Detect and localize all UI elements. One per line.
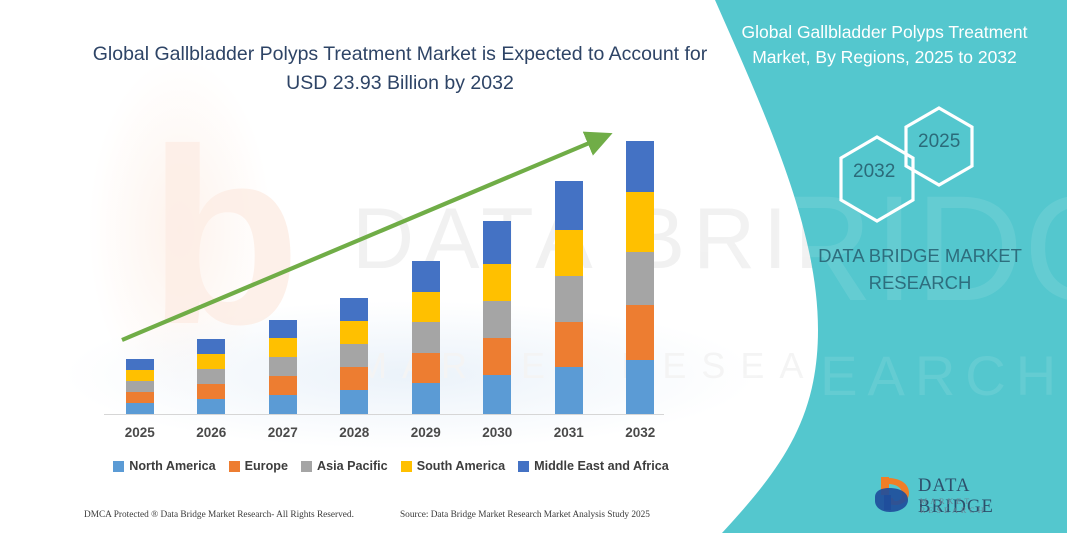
legend-swatch-icon — [113, 461, 124, 472]
bar-segment-north-america[interactable] — [340, 390, 368, 414]
brand-name: DATA BRIDGE MARKET RESEARCH — [795, 243, 1045, 297]
x-tick-2026: 2026 — [176, 425, 246, 440]
bar-segment-south-america[interactable] — [269, 338, 297, 357]
footer-source: Source: Data Bridge Market Research Mark… — [400, 510, 650, 520]
chart-legend: North AmericaEuropeAsia PacificSouth Ame… — [98, 459, 684, 473]
bar-segment-europe[interactable] — [626, 305, 654, 360]
hexagon-2025-label: 2025 — [918, 131, 960, 153]
legend-swatch-icon — [301, 461, 312, 472]
bar-segment-north-america[interactable] — [197, 399, 225, 414]
bar-segment-south-america[interactable] — [197, 354, 225, 369]
x-tick-2031: 2031 — [534, 425, 604, 440]
svg-text:RESEARCH: RESEARCH — [690, 344, 1066, 407]
bar-segment-asia-pacific[interactable] — [483, 301, 511, 338]
bar-segment-europe[interactable] — [483, 338, 511, 375]
bar-segment-europe[interactable] — [555, 322, 583, 367]
legend-label: South America — [417, 459, 505, 473]
bar-segment-asia-pacific[interactable] — [269, 357, 297, 376]
legend-label: Middle East and Africa — [534, 459, 669, 473]
bar-segment-south-america[interactable] — [555, 230, 583, 276]
bar-segment-north-america[interactable] — [626, 360, 654, 414]
bar-segment-middle-east-and-africa[interactable] — [626, 141, 654, 192]
footer-copyright: DMCA Protected ® Data Bridge Market Rese… — [84, 510, 354, 520]
bar-segment-europe[interactable] — [412, 353, 440, 383]
bar-2025[interactable] — [126, 359, 154, 414]
legend-item-europe[interactable]: Europe — [229, 459, 288, 473]
chart-plot-area: 20252026202720282029203020312032 — [0, 0, 700, 470]
bar-2032[interactable] — [626, 141, 654, 414]
x-tick-2030: 2030 — [462, 425, 532, 440]
bar-segment-south-america[interactable] — [126, 370, 154, 381]
bar-segment-south-america[interactable] — [483, 264, 511, 301]
legend-swatch-icon — [401, 461, 412, 472]
bar-segment-europe[interactable] — [269, 376, 297, 395]
bar-segment-asia-pacific[interactable] — [197, 369, 225, 384]
x-tick-2032: 2032 — [605, 425, 675, 440]
legend-item-north-america[interactable]: North America — [113, 459, 215, 473]
bar-2027[interactable] — [269, 320, 297, 414]
bar-segment-north-america[interactable] — [126, 403, 154, 414]
bar-segment-asia-pacific[interactable] — [555, 276, 583, 322]
bar-segment-middle-east-and-africa[interactable] — [412, 261, 440, 292]
bar-segment-middle-east-and-africa[interactable] — [555, 181, 583, 230]
legend-item-middle-east-and-africa[interactable]: Middle East and Africa — [518, 459, 669, 473]
bar-segment-asia-pacific[interactable] — [626, 252, 654, 305]
bar-segment-europe[interactable] — [340, 367, 368, 390]
bar-segment-north-america[interactable] — [412, 383, 440, 414]
bar-segment-south-america[interactable] — [340, 321, 368, 344]
dbmr-logo: DATA BRIDGE MARKET RESEARCH — [872, 473, 1042, 515]
bar-segment-middle-east-and-africa[interactable] — [340, 298, 368, 321]
legend-label: Asia Pacific — [317, 459, 388, 473]
bar-segment-middle-east-and-africa[interactable] — [126, 359, 154, 370]
bar-segment-asia-pacific[interactable] — [126, 381, 154, 392]
x-tick-2029: 2029 — [391, 425, 461, 440]
bar-2031[interactable] — [555, 181, 583, 414]
legend-item-asia-pacific[interactable]: Asia Pacific — [301, 459, 388, 473]
legend-item-south-america[interactable]: South America — [401, 459, 505, 473]
bar-2026[interactable] — [197, 339, 225, 414]
bar-segment-north-america[interactable] — [555, 367, 583, 414]
bar-group — [0, 0, 700, 414]
bar-segment-middle-east-and-africa[interactable] — [197, 339, 225, 354]
x-tick-2027: 2027 — [248, 425, 318, 440]
dbmr-logo-mark-icon — [872, 473, 918, 515]
infographic-root: b DATA BRIDGE MARKET RESEARCH Global Gal… — [0, 0, 1067, 533]
bar-segment-north-america[interactable] — [269, 395, 297, 414]
legend-swatch-icon — [518, 461, 529, 472]
x-axis-line — [104, 414, 664, 415]
legend-swatch-icon — [229, 461, 240, 472]
hexagon-2032-label: 2032 — [853, 161, 895, 183]
legend-label: Europe — [245, 459, 288, 473]
panel-title: Global Gallbladder Polyps Treatment Mark… — [722, 20, 1047, 70]
dbmr-logo-subtitle: MARKET RESEARCH — [920, 497, 1042, 515]
bar-segment-europe[interactable] — [126, 392, 154, 403]
bar-segment-middle-east-and-africa[interactable] — [269, 320, 297, 338]
bar-segment-middle-east-and-africa[interactable] — [483, 221, 511, 264]
bar-2030[interactable] — [483, 221, 511, 414]
bar-segment-asia-pacific[interactable] — [340, 344, 368, 367]
bar-segment-south-america[interactable] — [626, 192, 654, 252]
bar-segment-europe[interactable] — [197, 384, 225, 399]
x-tick-2028: 2028 — [319, 425, 389, 440]
bar-segment-north-america[interactable] — [483, 375, 511, 414]
bar-segment-asia-pacific[interactable] — [412, 322, 440, 353]
x-tick-2025: 2025 — [105, 425, 175, 440]
bar-2028[interactable] — [340, 298, 368, 414]
bar-segment-south-america[interactable] — [412, 292, 440, 322]
legend-label: North America — [129, 459, 215, 473]
bar-2029[interactable] — [412, 261, 440, 414]
